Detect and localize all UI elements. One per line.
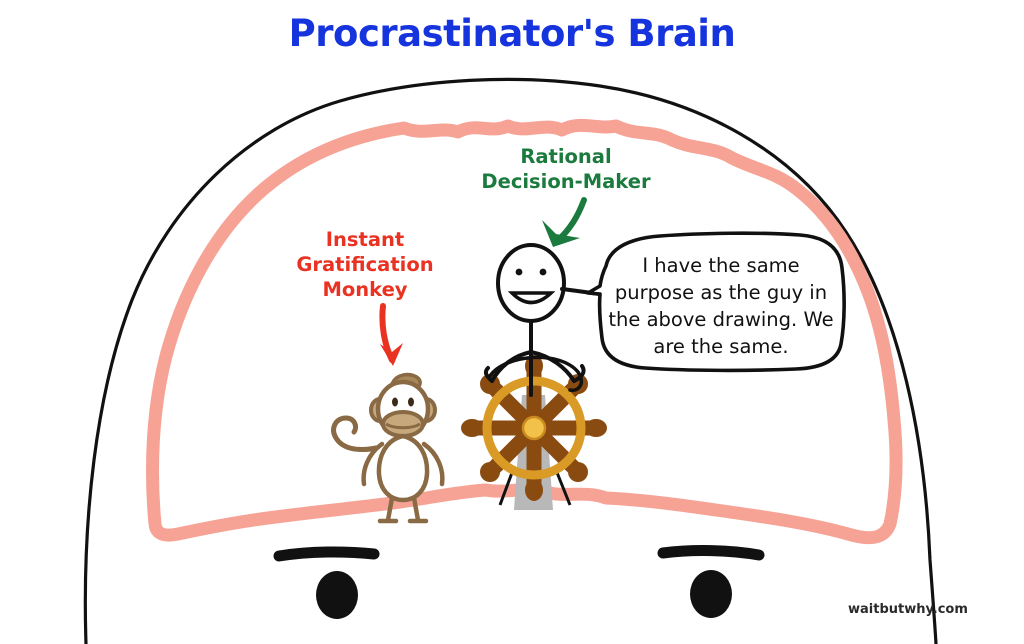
down-arrow-red-icon bbox=[380, 306, 403, 366]
eye-right bbox=[690, 570, 732, 618]
speech-bubble: I have the same purpose as the guy in th… bbox=[588, 233, 844, 370]
ship-wheel bbox=[461, 355, 607, 501]
bubble-line1: I have the same bbox=[642, 254, 799, 277]
rational-label-line2: Decision-Maker bbox=[481, 170, 651, 193]
eye-left bbox=[316, 571, 358, 619]
comic-canvas: Procrastinator's Brain bbox=[0, 0, 1024, 644]
bubble-line3: the above drawing. We bbox=[608, 308, 833, 331]
bubble-line2: purpose as the guy in bbox=[615, 281, 827, 304]
wheel-hub bbox=[523, 417, 545, 439]
eyebrow-right bbox=[663, 551, 759, 555]
bubble-line4: are the same. bbox=[653, 335, 788, 358]
down-arrow-green-icon bbox=[542, 200, 584, 247]
monkey-label-line3: Monkey bbox=[322, 278, 407, 301]
rational-decision-maker-figure bbox=[486, 245, 606, 395]
page-title: Procrastinator's Brain bbox=[289, 12, 736, 55]
monkey-label-line2: Gratification bbox=[296, 253, 433, 276]
rational-label-line1: Rational bbox=[520, 145, 611, 168]
watermark: waitbutwhy.com bbox=[848, 602, 968, 617]
monkey-label-line1: Instant bbox=[326, 228, 404, 251]
eyebrow-left bbox=[279, 552, 374, 556]
comic-illustration: Procrastinator's Brain bbox=[0, 0, 1024, 644]
